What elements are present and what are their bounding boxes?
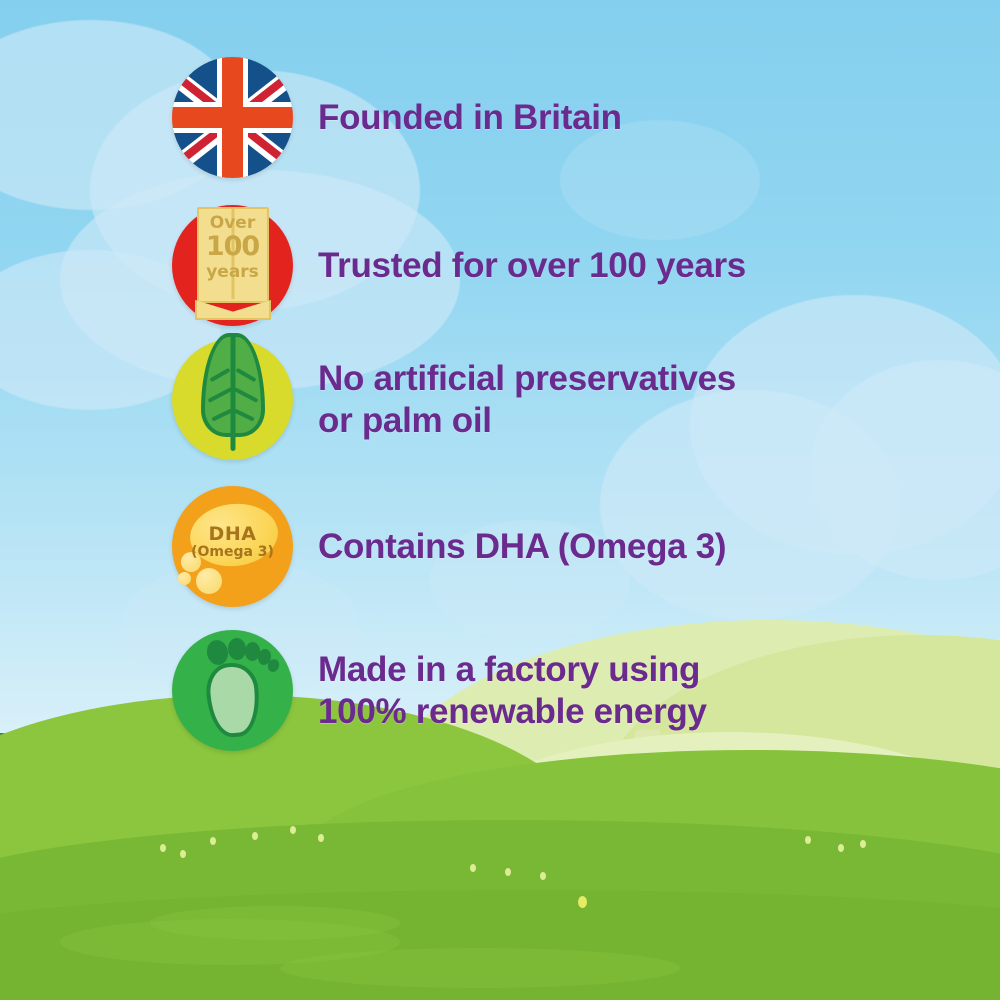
footprint-icon bbox=[170, 628, 295, 753]
feature-label: Contains DHA (Omega 3) bbox=[318, 526, 726, 567]
feature-label: Trusted for over 100 years bbox=[318, 245, 746, 286]
bubble-icon bbox=[196, 568, 222, 594]
oil-droplet-icon: DHA (Omega 3) bbox=[170, 484, 295, 609]
leaf-icon bbox=[170, 337, 295, 462]
feature-list: Founded in Britain Over 100 years Truste… bbox=[0, 0, 1000, 1000]
bubble-icon bbox=[178, 572, 191, 585]
book-badge-line3: years bbox=[170, 264, 295, 281]
feature-label: Made in a factory using 100% renewable e… bbox=[318, 649, 707, 732]
feature-row-no-artificial-preservatives: No artificial preservatives or palm oil bbox=[170, 337, 736, 462]
dha-badge-line1: DHA bbox=[170, 525, 295, 545]
open-book-icon: Over 100 years bbox=[170, 203, 295, 328]
feature-row-trusted-over-100-years: Over 100 years Trusted for over 100 year… bbox=[170, 203, 746, 328]
union-jack-flag-icon bbox=[170, 55, 295, 180]
feature-row-renewable-energy: Made in a factory using 100% renewable e… bbox=[170, 628, 707, 753]
feature-label: Founded in Britain bbox=[318, 97, 622, 138]
book-badge-line1: Over bbox=[170, 215, 295, 232]
feature-row-contains-dha: DHA (Omega 3) Contains DHA (Omega 3) bbox=[170, 484, 726, 609]
dha-badge-line2: (Omega 3) bbox=[170, 545, 295, 560]
book-badge-line2: 100 bbox=[170, 233, 295, 260]
feature-row-founded-in-britain: Founded in Britain bbox=[170, 55, 622, 180]
feature-label: No artificial preservatives or palm oil bbox=[318, 358, 736, 441]
